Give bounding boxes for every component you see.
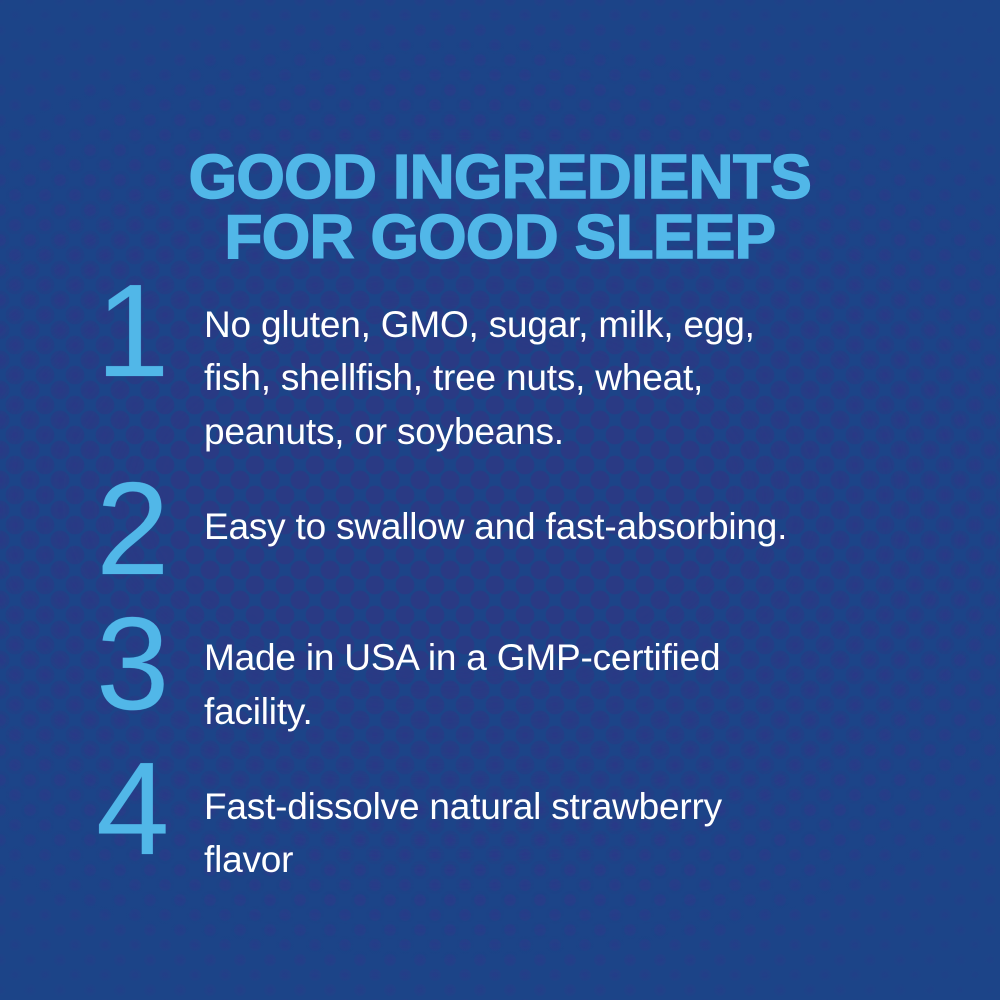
list-item-text: Easy to swallow and fast-absorbing. bbox=[204, 494, 960, 553]
ingredients-poster: GOOD INGREDIENTS FOR GOOD SLEEP 1 No glu… bbox=[0, 0, 1000, 1000]
poster-content: GOOD INGREDIENTS FOR GOOD SLEEP 1 No glu… bbox=[0, 0, 1000, 1000]
page-title-line-1: GOOD INGREDIENTS bbox=[0, 148, 1000, 209]
page-title: GOOD INGREDIENTS FOR GOOD SLEEP bbox=[0, 148, 1000, 270]
list-item-number: 3 bbox=[96, 603, 204, 724]
list-item-number: 1 bbox=[96, 270, 204, 391]
list-item: 2 Easy to swallow and fast-absorbing. bbox=[96, 494, 960, 589]
list-item-text: Made in USA in a GMP-certified facility. bbox=[204, 625, 960, 738]
list-item: 3 Made in USA in a GMP-certified facilit… bbox=[96, 625, 960, 738]
list-item-number: 2 bbox=[96, 468, 204, 589]
list-item-text: Fast-dissolve natural strawberry flavor bbox=[204, 774, 960, 887]
list-item: 4 Fast-dissolve natural strawberry flavo… bbox=[96, 774, 960, 887]
benefits-list: 1 No gluten, GMO, sugar, milk, egg, fish… bbox=[96, 292, 960, 886]
list-item-text: No gluten, GMO, sugar, milk, egg, fish, … bbox=[204, 292, 960, 458]
list-item-number: 4 bbox=[96, 748, 204, 869]
list-item: 1 No gluten, GMO, sugar, milk, egg, fish… bbox=[96, 292, 960, 458]
